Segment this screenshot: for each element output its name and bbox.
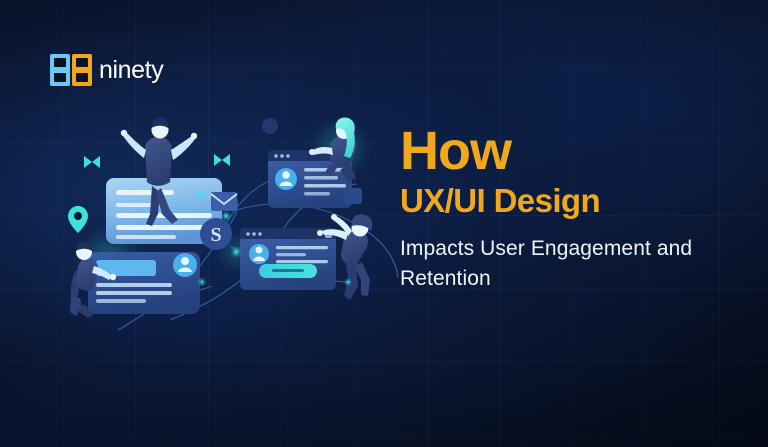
dollar-circle-icon: S xyxy=(200,218,232,250)
headline-line-3: Impacts User Engagement and Retention xyxy=(400,234,730,294)
svg-text:S: S xyxy=(210,224,221,246)
logo-block-eight-blue xyxy=(50,54,70,86)
88-blocks-logo-mark xyxy=(50,54,92,86)
video-icon-left xyxy=(84,156,100,168)
cta-button-read-more xyxy=(259,264,317,278)
dot-accent xyxy=(262,118,278,134)
logo-block-eight-orange xyxy=(72,54,92,86)
browser-window-profile-bottom xyxy=(240,228,336,290)
profile-card-left xyxy=(88,252,200,314)
logo-wordmark: ninety xyxy=(99,58,163,83)
location-pin-icon xyxy=(68,206,88,233)
brand-logo[interactable]: ninety xyxy=(50,54,163,86)
video-icon-right xyxy=(214,154,230,166)
headline-line-2: UX/UI Design xyxy=(400,183,730,220)
headline-line-1: How xyxy=(400,124,730,179)
hero-banner: S ninety How UX/UI Design Impacts User E… xyxy=(0,0,768,447)
envelope-icon xyxy=(211,192,237,211)
headline-block: How UX/UI Design Impacts User Engagement… xyxy=(400,124,730,294)
